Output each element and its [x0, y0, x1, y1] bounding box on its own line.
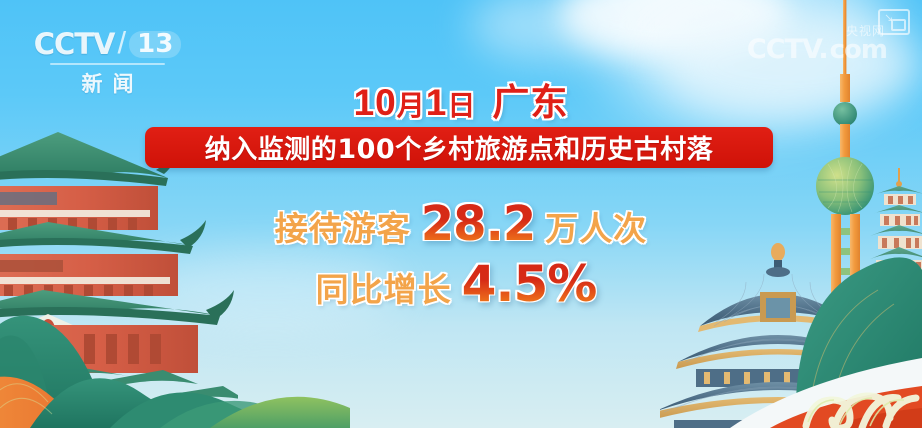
stat-value-growth: 4.5% [462, 255, 597, 313]
red-banner: 纳入监测的100个乡村旅游点和历史古村落 [145, 127, 773, 168]
picture-in-picture-icon[interactable]: ↘ [878, 9, 910, 35]
pip-inner-frame [891, 19, 906, 31]
auspicious-wave-clouds [800, 356, 922, 428]
banner-prefix: 纳入监测的 [205, 134, 338, 164]
headline-day: 1 [426, 82, 448, 123]
headline-date-location: 10月1日广东 [0, 72, 922, 126]
stat-unit-visitors: 万人次 [545, 202, 647, 250]
broadcast-graphic: CCTV / 13 新闻 CCTV. com 央视网 ↘ 10月1日广东 纳入监… [0, 0, 922, 428]
watermark-cctv: CCTV. [747, 34, 828, 65]
stat-label-visitors: 接待游客 [275, 202, 411, 250]
headline-day-unit: 日 [447, 90, 476, 121]
channel-logo-number: 13 [129, 31, 181, 58]
watermark-com: com [830, 35, 887, 65]
banner-suffix: 个乡村旅游点和历史古村落 [395, 134, 713, 164]
headline-province: 广东 [492, 82, 568, 123]
stat-row-visitors: 接待游客 28.2 万人次 [0, 196, 922, 252]
banner-text: 纳入监测的100个乡村旅游点和历史古村落 [205, 129, 713, 166]
logo-underline [50, 63, 165, 65]
headline-month-unit: 月 [397, 90, 426, 121]
channel-logo-text: CCTV [34, 27, 115, 61]
site-watermark: CCTV. com 央视网 [747, 34, 887, 65]
stat-value-visitors: 28.2 [421, 196, 535, 252]
stat-label-growth: 同比增长 [316, 263, 452, 311]
channel-logo-slash: / [118, 25, 127, 61]
headline-month: 10 [354, 82, 397, 123]
banner-count: 100 [337, 134, 395, 165]
stat-row-growth: 同比增长 4.5% [0, 255, 922, 313]
